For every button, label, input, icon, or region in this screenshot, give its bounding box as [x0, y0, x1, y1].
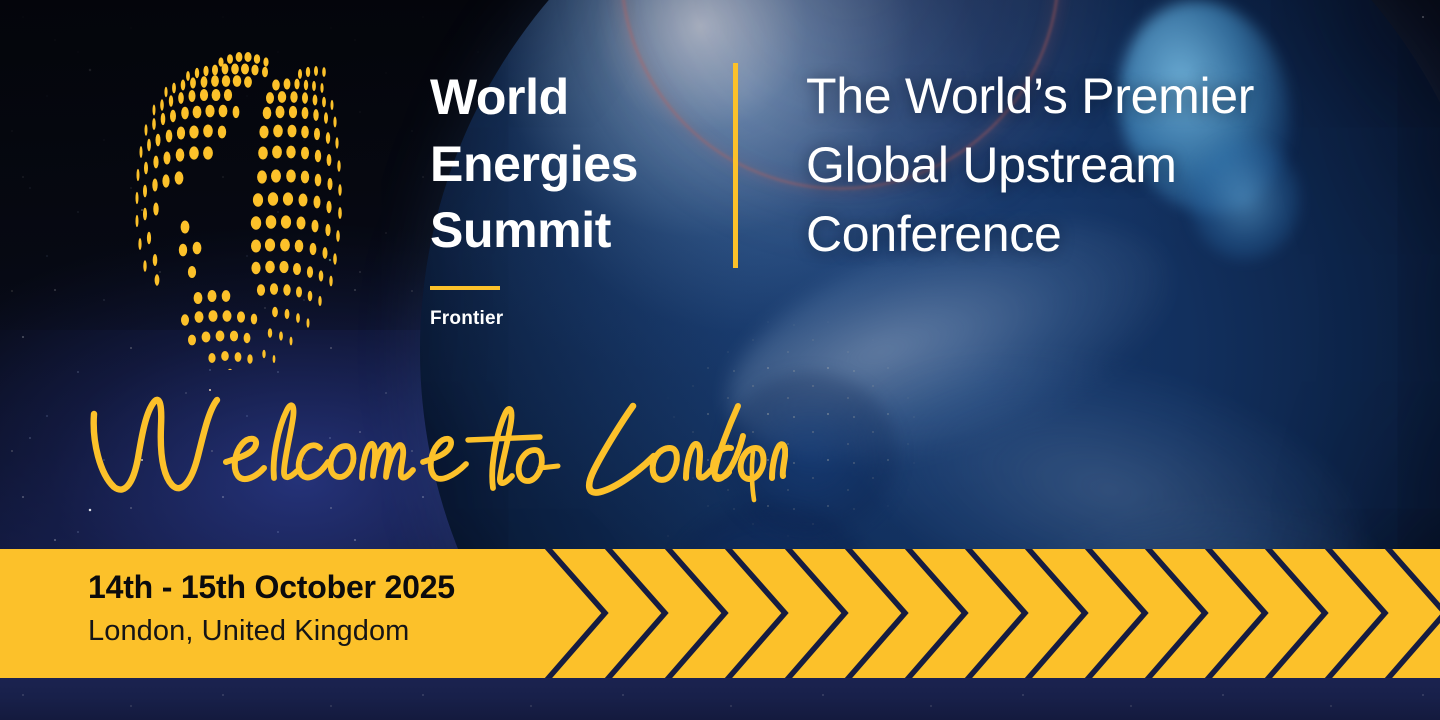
tagline-block: The World’s Premier Global Upstream Conf…	[806, 62, 1406, 269]
dotted-globe-icon	[78, 40, 408, 370]
brand-line-2: Energies	[430, 131, 720, 198]
sub-brand-label: Frontier	[430, 308, 720, 330]
tagline-line-1: The World’s Premier	[806, 62, 1406, 131]
vertical-yellow-divider	[733, 63, 738, 268]
brand-block: World Energies Summit Frontier	[430, 64, 720, 330]
tagline-line-3: Conference	[806, 200, 1406, 269]
event-info-bar: 14th - 15th October 2025 London, United …	[0, 549, 1440, 678]
event-location: London, United Kingdom	[88, 615, 455, 648]
event-banner: World Energies Summit Frontier The World…	[0, 0, 1440, 720]
welcome-script-text	[88, 392, 788, 522]
bottom-navy-strip	[0, 678, 1440, 720]
brand-underline-rule	[430, 286, 500, 290]
brand-line-3: Summit	[430, 197, 720, 264]
event-info-text: 14th - 15th October 2025 London, United …	[88, 569, 455, 648]
tagline-line-2: Global Upstream	[806, 131, 1406, 200]
bottom-starfield	[0, 678, 1440, 720]
event-dates: 14th - 15th October 2025	[88, 569, 455, 606]
brand-line-1: World	[430, 64, 720, 131]
